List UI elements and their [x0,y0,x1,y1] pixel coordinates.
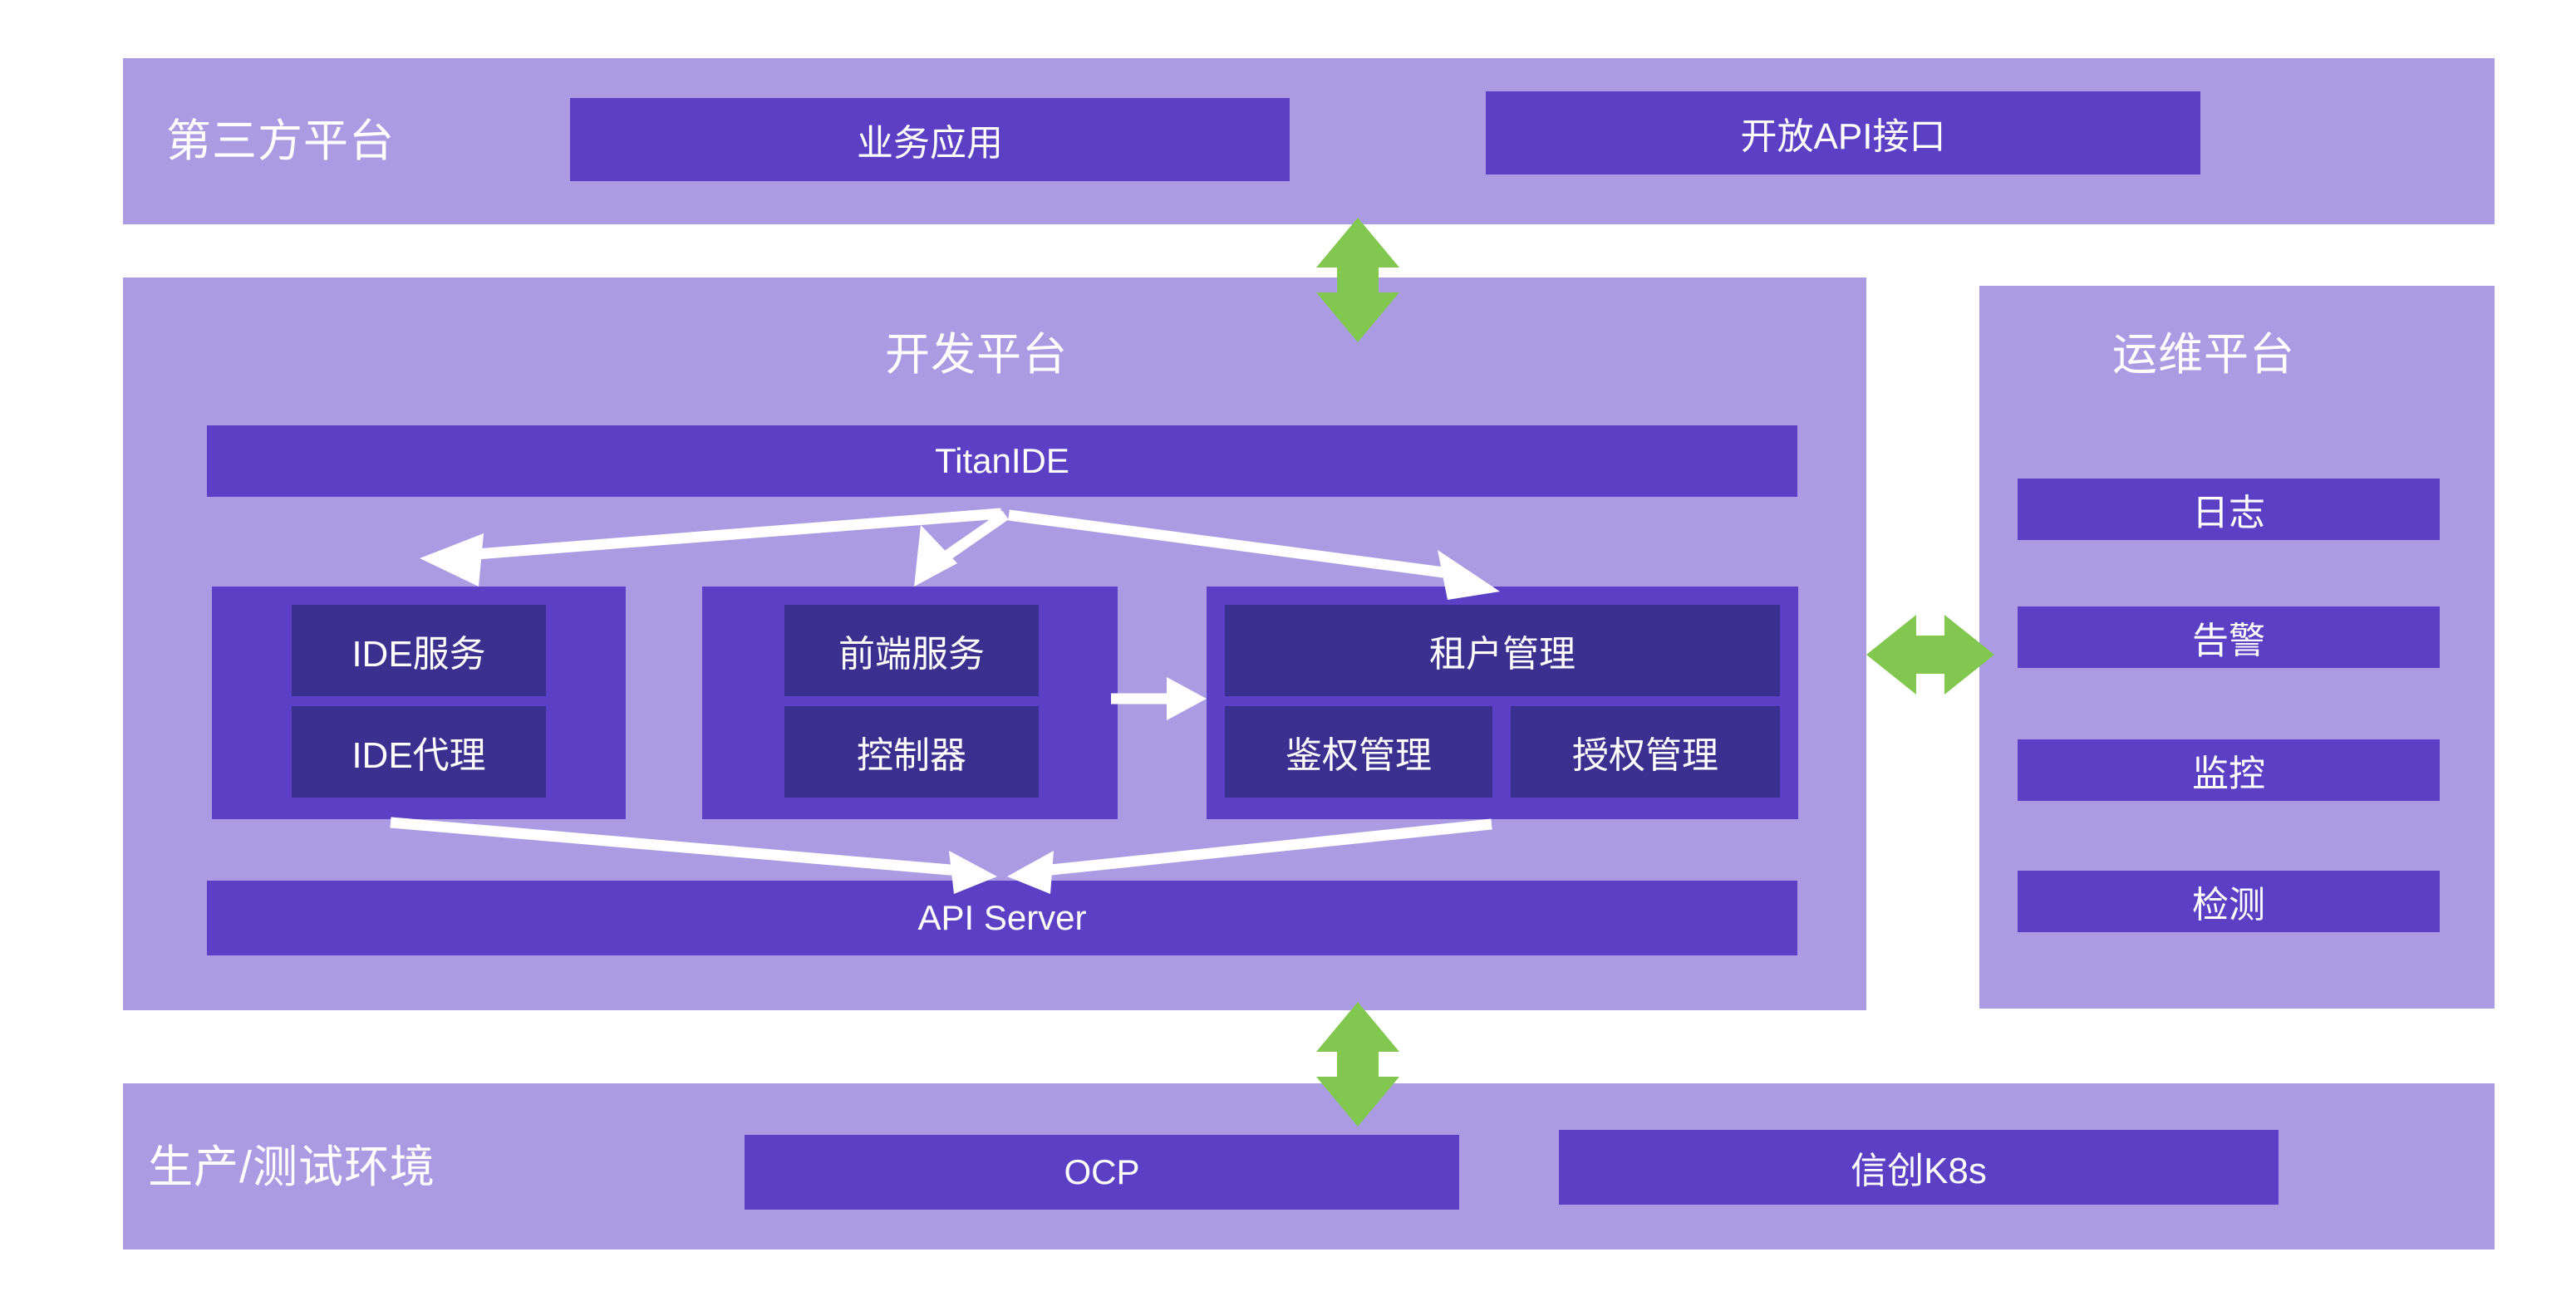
third-party-platform-title: 第三方平台 [166,119,395,164]
architecture-diagram: 第三方平台 业务应用 开放API接口 开发平台 TitanIDE IDE服务 I… [0,0,2576,1306]
ocp-box[interactable]: OCP [745,1135,1459,1210]
business-application-box[interactable]: 业务应用 [570,98,1290,181]
green-horizontal-arrow-icon [1866,615,1994,695]
ide-agent-box[interactable]: IDE代理 [292,706,546,798]
open-api-interface-box[interactable]: 开放API接口 [1486,91,2200,174]
ops-platform-title: 运维平台 [2112,332,2295,377]
frontend-service-box[interactable]: 前端服务 [784,605,1039,696]
ops-item-detection[interactable]: 检测 [2018,871,2440,932]
controller-box[interactable]: 控制器 [784,706,1039,798]
xinchuang-k8s-box[interactable]: 信创K8s [1559,1130,2279,1205]
api-server-box[interactable]: API Server [207,881,1797,955]
authentication-management-box[interactable]: 鉴权管理 [1225,706,1492,798]
ops-item-monitor[interactable]: 监控 [2018,739,2440,801]
tenant-management-box[interactable]: 租户管理 [1225,605,1780,696]
authorization-management-box[interactable]: 授权管理 [1511,706,1780,798]
titanide-box[interactable]: TitanIDE [207,425,1797,497]
ops-item-log[interactable]: 日志 [2018,479,2440,540]
ide-service-box[interactable]: IDE服务 [292,605,546,696]
ops-item-alarm[interactable]: 告警 [2018,606,2440,668]
dev-platform-title: 开发平台 [885,332,1068,377]
environment-title: 生产/测试环境 [148,1145,435,1190]
